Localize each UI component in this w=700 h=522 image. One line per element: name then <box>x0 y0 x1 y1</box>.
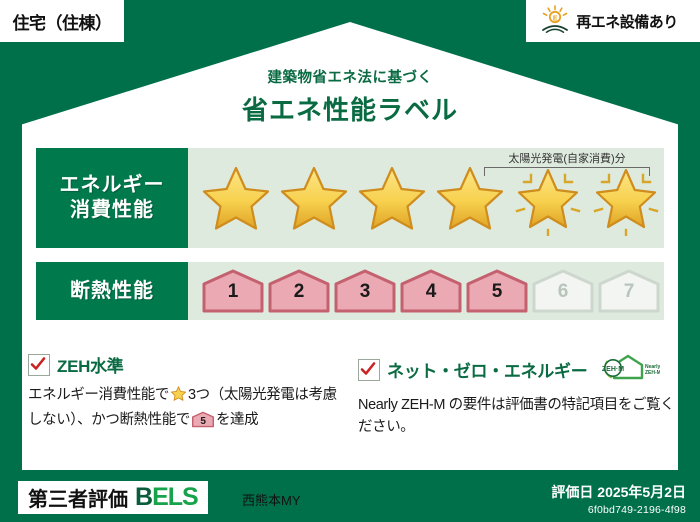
insulation-performance-row: 断熱性能 1 2 3 4 <box>36 262 664 320</box>
house-badge-value: 5 <box>192 414 214 430</box>
insulation-level-badges: 1 2 3 4 5 <box>188 269 660 313</box>
renewable-equipment-tag: E 再エネ設備あり <box>526 0 700 42</box>
criterion-title: ネット・ゼロ・エネルギー <box>387 357 587 382</box>
insulation-badge: 2 <box>268 269 330 313</box>
renewable-equipment-text: 再エネ設備あり <box>576 11 678 32</box>
page-title: 省エネ性能ラベル <box>0 90 700 127</box>
criterion-header: ZEH水準 <box>28 352 346 377</box>
insulation-badge-value: 4 <box>400 281 462 303</box>
star-filled <box>276 160 352 236</box>
svg-text:ZEH·M: ZEH·M <box>602 366 624 373</box>
insulation-rating-body: 1 2 3 4 5 <box>188 262 664 320</box>
criterion-header: ネット・ゼロ・エネルギー ZEH·M Nearly ZEH-M <box>358 352 676 387</box>
insulation-badge-value: 7 <box>598 281 660 303</box>
svg-text:ZEH-M: ZEH-M <box>645 370 660 376</box>
zeh-m-logo-icon: ZEH·M Nearly ZEH-M <box>598 352 660 387</box>
insulation-badge-value: 2 <box>268 281 330 303</box>
criterion-text-part1: エネルギー消費性能で <box>28 387 169 403</box>
footer-bar: 第三者評価 BELS 西熊本MY 評価日 2025年5月2日 6f0bd749-… <box>0 470 700 522</box>
energy-performance-row: エネルギー 消費性能 <box>36 148 664 248</box>
star-solar <box>510 160 586 236</box>
energy-performance-label: エネルギー 消費性能 <box>36 148 188 248</box>
star-filled <box>198 160 274 236</box>
criterion-text-part3: を達成 <box>216 412 258 428</box>
title-subtitle: 建築物省エネ法に基づく <box>0 66 700 87</box>
energy-label-line2: 消費性能 <box>70 198 154 223</box>
insulation-badge-value: 6 <box>532 281 594 303</box>
insulation-badge-value: 5 <box>466 281 528 303</box>
insulation-badge-value: 1 <box>202 281 264 303</box>
star-solar <box>588 160 664 236</box>
energy-rating-body: 太陽光発電(自家消費)分 <box>188 148 664 248</box>
insulation-badge: 7 <box>598 269 660 313</box>
energy-label-line1: エネルギー <box>60 173 165 198</box>
dwelling-type-text: 住宅（住棟） <box>13 9 112 34</box>
building-name: 西熊本MY <box>242 490 301 509</box>
bels-logo-els: ELS <box>152 483 198 512</box>
star-filled <box>354 160 430 236</box>
bels-logo-b: B <box>135 483 152 512</box>
evaluation-info: 評価日 2025年5月2日 6f0bd749-2196-4f98 <box>551 482 686 516</box>
insulation-badge: 6 <box>532 269 594 313</box>
insulation-badge: 3 <box>334 269 396 313</box>
dwelling-type-tag: 住宅（住棟） <box>0 0 124 42</box>
check-icon <box>28 354 50 376</box>
star-rating <box>188 160 664 236</box>
evaluation-id: 6f0bd749-2196-4f98 <box>551 504 686 516</box>
criterion-title: ZEH水準 <box>57 352 124 377</box>
star-filled <box>432 160 508 236</box>
insulation-performance-label: 断熱性能 <box>36 262 188 320</box>
bels-label-text: 第三者評価 <box>28 483 128 512</box>
insulation-badge: 5 <box>466 269 528 313</box>
check-icon <box>358 359 380 381</box>
insulation-badge: 4 <box>400 269 462 313</box>
insulation-label-text: 断熱性能 <box>70 279 154 304</box>
insulation-badge-value: 3 <box>334 281 396 303</box>
energy-performance-label: 住宅（住棟） E 再エネ設備あり 建築物省エネ法に基づく 省エネ性能ラベ <box>0 0 700 522</box>
title-block: 建築物省エネ法に基づく 省エネ性能ラベル <box>0 66 700 127</box>
evaluation-date: 評価日 2025年5月2日 <box>551 482 686 502</box>
solar-sun-icon: E <box>540 5 570 37</box>
house-badge-icon: 5 <box>192 411 214 428</box>
criterion-description: Nearly ZEH-M の要件は評価書の特記項目をご覧ください。 <box>358 394 676 439</box>
criterion-net-zero-energy: ネット・ゼロ・エネルギー ZEH·M Nearly ZEH-M Nearly Z… <box>358 352 676 439</box>
bels-badge: 第三者評価 BELS <box>18 481 208 514</box>
criterion-zeh-standard: ZEH水準 エネルギー消費性能で3つ（太陽光発電は考慮しない）、かつ断熱性能で5… <box>28 352 346 432</box>
insulation-badge: 1 <box>202 269 264 313</box>
star-icon <box>170 385 187 409</box>
criterion-description: エネルギー消費性能で3つ（太陽光発電は考慮しない）、かつ断熱性能で5を達成 <box>28 384 346 432</box>
